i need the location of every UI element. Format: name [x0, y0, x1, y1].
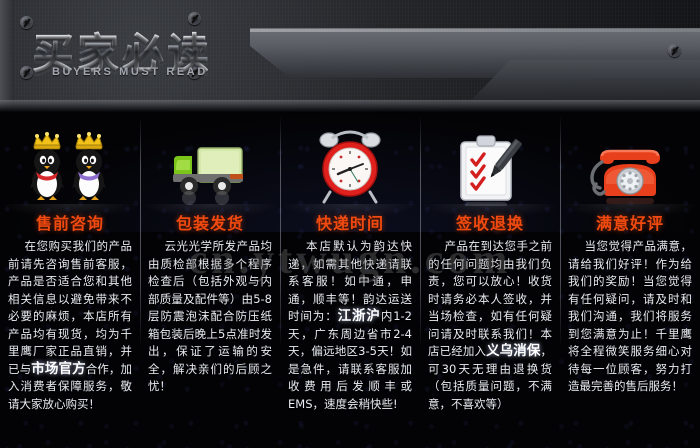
column-body: 云光光学所发产品均由质检部根据多个程序检查后（包括外观与内部质量及配件等）由5-… [148, 238, 272, 396]
column-body: 本店默认为韵达快递，如需其他快递请联系客服！如中通，申通，顺丰等！韵达运送时间为… [288, 238, 412, 413]
column-heading: 满意好评 [560, 210, 700, 234]
qq-penguins-icon [0, 116, 140, 206]
plate-bottom-edge [0, 100, 700, 112]
column-body-pre: 云光光学所发产品均由质检部根据多个程序检查后（包括外观与内部质量及配件等）由5-… [148, 239, 272, 393]
red-telephone-icon [560, 116, 700, 206]
column-heading: 售前咨询 [0, 210, 140, 234]
column-body-post: 内1-2天，广东周边省市2-4天，偏远地区3-5天！如是急件，请联系客服加收费用… [288, 309, 412, 411]
page-subtitle: BUYERS MUST READ [52, 66, 208, 78]
column-body-highlight: 义乌消保 [486, 343, 540, 359]
column-body-highlight: 江浙沪 [338, 308, 381, 324]
column-heading: 快递时间 [280, 210, 420, 234]
column-body: 产品在到达您手之前的任何问题均由我们负责，您可以放心！收货时请务必本人签收，并当… [428, 238, 552, 413]
column-body-pre: 当您觉得产品满意，请给我们好评！作为给我们的奖励！当您觉得有任何疑问，请及时和我… [568, 239, 692, 393]
screw-icon [668, 44, 681, 57]
column-body-pre: 在您购买我们的产品前请先咨询售前客服，产品是否适合您和其他相关信息以避免带来不必… [8, 239, 132, 376]
column-packing-shipping: 包装发货 云光光学所发产品均由质检部根据多个程序检查后（包括外观与内部质量及配件… [140, 112, 280, 448]
column-pre-sale-consult: 售前咨询 在您购买我们的产品前请先咨询售前客服，产品是否适合您和其他相关信息以避… [0, 112, 140, 448]
column-body: 在您购买我们的产品前请先咨询售前客服，产品是否适合您和其他相关信息以避免带来不必… [8, 238, 132, 413]
steel-band-highlight [250, 29, 700, 32]
column-heading: 签收退换 [420, 210, 560, 234]
alarm-clock-icon [280, 116, 420, 206]
buyers-must-read-banner: 买家必读 BUYERS MUST READ [0, 0, 700, 448]
column-body-highlight: 市场官方 [31, 361, 85, 377]
header-plate: 买家必读 BUYERS MUST READ [0, 0, 700, 112]
plate-left-edge [0, 0, 14, 112]
column-good-review: 满意好评 当您觉得产品满意，请给我们好评！作为给我们的奖励！当您觉得有任何疑问，… [560, 112, 700, 448]
clipboard-check-pen-icon [420, 116, 560, 206]
info-columns: 售前咨询 在您购买我们的产品前请先咨询售前客服，产品是否适合您和其他相关信息以避… [0, 112, 700, 448]
column-sign-return: 签收退换 产品在到达您手之前的任何问题均由我们负责，您可以放心！收货时请务必本人… [420, 112, 560, 448]
green-truck-icon [140, 116, 280, 206]
column-heading: 包装发货 [140, 210, 280, 234]
column-body: 当您觉得产品满意，请给我们好评！作为给我们的奖励！当您觉得有任何疑问，请及时和我… [568, 238, 692, 396]
column-delivery-time: 快递时间 本店默认为韵达快递，如需其他快递请联系客服！如中通，申通，顺丰等！韵达… [280, 112, 420, 448]
column-body-pre: 产品在到达您手之前的任何问题均由我们负责，您可以放心！收货时请务必本人签收，并当… [428, 239, 552, 358]
